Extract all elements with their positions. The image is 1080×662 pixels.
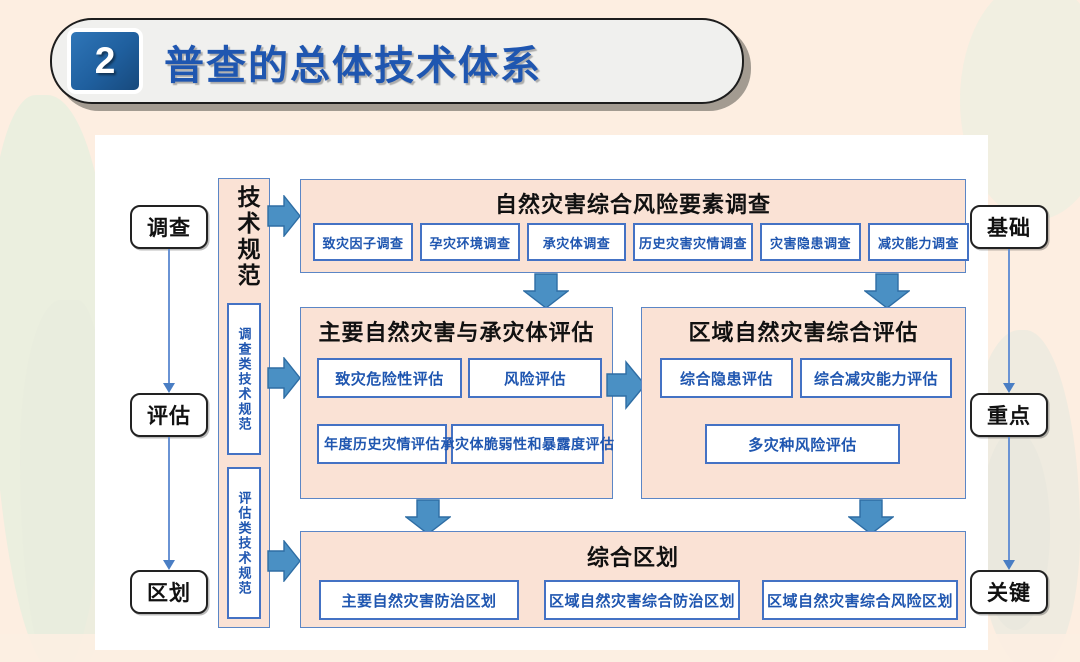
right-stage-foundation-label: 基础 — [987, 212, 1031, 242]
left-stage-assessment[interactable]: 评估 — [130, 393, 208, 437]
right-stage-key-label: 关键 — [987, 577, 1031, 607]
panel-assessment-main: 主要自然灾害与承灾体评估 致灾危险性评估 风险评估 年度历史灾情评估 承灾体脆弱… — [300, 307, 613, 499]
slide-title: 普查的总体技术体系 — [164, 32, 542, 92]
assessment-main-item-2-label: 年度历史灾情评估 — [324, 434, 440, 454]
right-connector-1-arrowhead — [1003, 383, 1015, 393]
panel-survey: 自然灾害综合风险要素调查 致灾因子调查 孕灾环境调查 承灾体调查 历史灾害灾情调… — [300, 179, 966, 273]
spec-sub-investigation-label: 调查类技术规范 — [235, 327, 254, 432]
panel-assessment-regional: 区域自然灾害综合评估 综合隐患评估 综合减灾能力评估 多灾种风险评估 — [641, 307, 966, 499]
arrow-spec-to-assessment — [267, 357, 301, 399]
arrow-survey-to-assessment-main — [523, 273, 569, 309]
diagram-canvas: 调查 评估 区划 技术规范 调查类技术规范 评估类技术规范 自然灾害综合风险要素… — [95, 135, 988, 650]
right-connector-1 — [1008, 249, 1010, 385]
right-stage-priority[interactable]: 重点 — [970, 393, 1048, 437]
survey-item-3-label: 历史灾害灾情调查 — [639, 233, 747, 252]
arrow-assessment-main-to-zoning — [405, 499, 451, 535]
right-stage-foundation[interactable]: 基础 — [970, 205, 1048, 249]
survey-item-4-label: 灾害隐患调查 — [770, 233, 851, 252]
zoning-item-0-label: 主要自然灾害防治区划 — [341, 590, 496, 611]
panel-survey-title: 自然灾害综合风险要素调查 — [301, 187, 965, 219]
survey-item-5-label: 减灾能力调查 — [878, 233, 959, 252]
assessment-regional-item-1-label: 综合减灾能力评估 — [814, 368, 938, 389]
arrow-survey-to-assessment-regional — [864, 273, 910, 309]
zoning-item-1[interactable]: 区域自然灾害综合防治区划 — [544, 580, 740, 620]
zoning-item-2[interactable]: 区域自然灾害综合风险区划 — [762, 580, 958, 620]
left-connector-1-arrowhead — [163, 383, 175, 393]
survey-item-0[interactable]: 致灾因子调查 — [313, 223, 413, 261]
left-connector-1 — [168, 249, 170, 385]
arrow-assessment-regional-to-zoning — [848, 499, 894, 535]
panel-assessment-regional-title: 区域自然灾害综合评估 — [642, 315, 965, 347]
spec-sub-investigation[interactable]: 调查类技术规范 — [227, 303, 261, 455]
assessment-regional-item-0-label: 综合隐患评估 — [680, 368, 773, 389]
assessment-main-item-0-label: 致灾危险性评估 — [335, 368, 444, 389]
assessment-main-item-2[interactable]: 年度历史灾情评估 — [317, 424, 447, 464]
right-connector-2 — [1008, 437, 1010, 562]
left-connector-2 — [168, 437, 170, 562]
right-stage-key[interactable]: 关键 — [970, 570, 1048, 614]
survey-item-1-label: 孕灾环境调查 — [429, 233, 510, 252]
right-connector-2-arrowhead — [1003, 560, 1015, 570]
left-stage-investigation[interactable]: 调查 — [130, 205, 208, 249]
assessment-main-item-3[interactable]: 承灾体脆弱性和暴露度评估 — [451, 424, 604, 464]
zoning-item-1-label: 区域自然灾害综合防治区划 — [549, 590, 735, 611]
left-connector-2-arrowhead — [163, 560, 175, 570]
assessment-regional-item-2-label: 多灾种风险评估 — [748, 434, 857, 455]
left-stage-investigation-label: 调查 — [147, 212, 191, 242]
survey-item-5[interactable]: 减灾能力调查 — [868, 223, 969, 261]
survey-item-2[interactable]: 承灾体调查 — [527, 223, 626, 261]
assessment-main-item-1[interactable]: 风险评估 — [468, 358, 602, 398]
survey-item-3[interactable]: 历史灾害灾情调查 — [633, 223, 753, 261]
left-stage-zoning[interactable]: 区划 — [130, 570, 208, 614]
assessment-main-item-1-label: 风险评估 — [504, 368, 566, 389]
slide-number-badge: 2 — [67, 28, 143, 94]
panel-assessment-main-title: 主要自然灾害与承灾体评估 — [301, 315, 612, 347]
left-stage-zoning-label: 区划 — [147, 577, 191, 607]
survey-item-4[interactable]: 灾害隐患调查 — [760, 223, 861, 261]
slide-header: 2 普查的总体技术体系 — [50, 18, 744, 104]
assessment-main-item-3-label: 承灾体脆弱性和暴露度评估 — [441, 434, 615, 454]
spec-sub-assessment-label: 评估类技术规范 — [235, 491, 254, 596]
assessment-regional-item-2[interactable]: 多灾种风险评估 — [705, 424, 900, 464]
panel-zoning: 综合区划 主要自然灾害防治区划 区域自然灾害综合防治区划 区域自然灾害综合风险区… — [300, 531, 966, 628]
spec-sub-assessment[interactable]: 评估类技术规范 — [227, 467, 261, 619]
arrow-assessment-main-to-regional — [606, 360, 646, 410]
survey-item-0-label: 致灾因子调查 — [322, 233, 403, 252]
zoning-item-2-label: 区域自然灾害综合风险区划 — [767, 590, 953, 611]
left-stage-assessment-label: 评估 — [147, 400, 191, 430]
assessment-main-item-0[interactable]: 致灾危险性评估 — [317, 358, 462, 398]
panel-zoning-title: 综合区划 — [301, 540, 965, 572]
arrow-spec-to-zoning — [267, 540, 301, 582]
assessment-regional-item-1[interactable]: 综合减灾能力评估 — [800, 358, 952, 398]
right-stage-priority-label: 重点 — [987, 400, 1031, 430]
zoning-item-0[interactable]: 主要自然灾害防治区划 — [319, 580, 519, 620]
spec-column: 技术规范 调查类技术规范 评估类技术规范 — [218, 178, 270, 628]
survey-item-2-label: 承灾体调查 — [543, 233, 611, 252]
spec-column-title: 技术规范 — [229, 185, 259, 289]
arrow-spec-to-survey — [267, 195, 301, 237]
survey-item-1[interactable]: 孕灾环境调查 — [420, 223, 520, 261]
assessment-regional-item-0[interactable]: 综合隐患评估 — [660, 358, 793, 398]
